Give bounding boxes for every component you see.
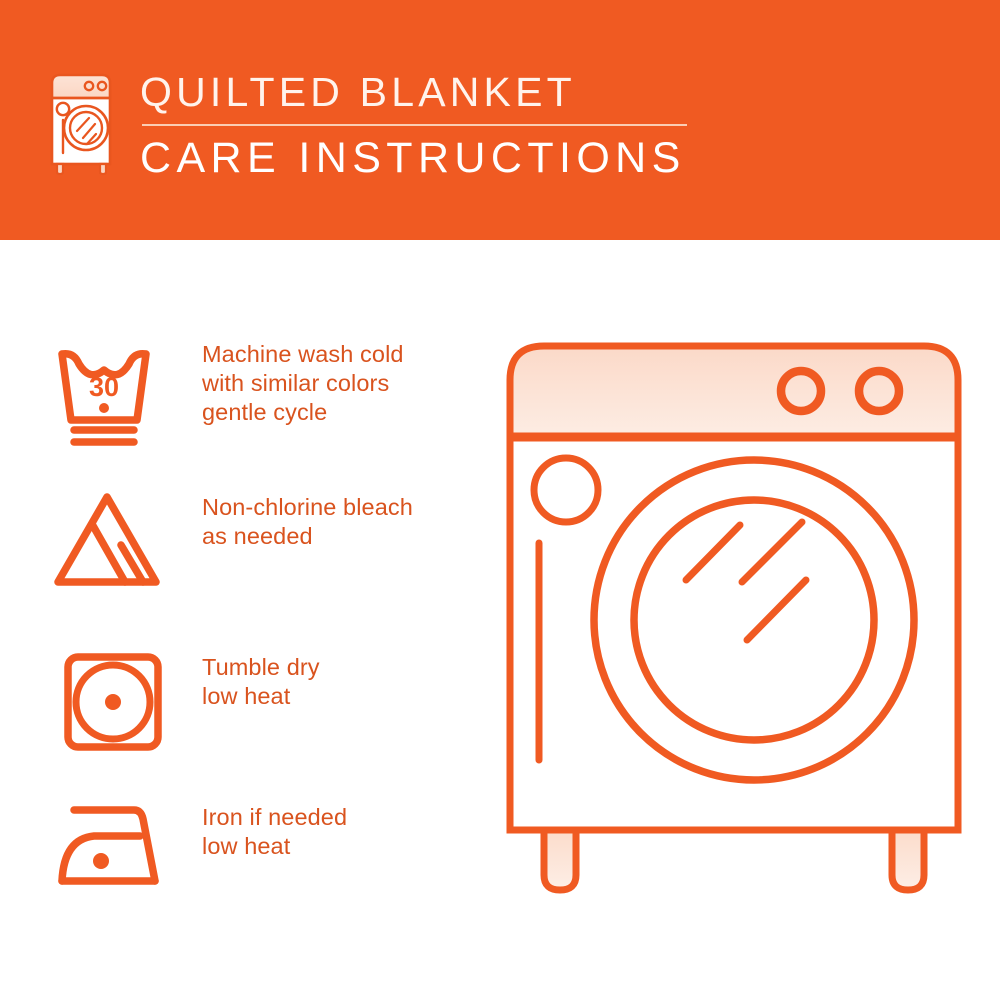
- care-text-bleach: Non-chlorine bleach as needed: [202, 493, 470, 551]
- care-instruction-list: 30 Machine wash cold with similar colors…: [0, 240, 470, 1000]
- care-row-iron: Iron if needed low heat: [0, 795, 470, 925]
- care-text-line: Non-chlorine bleach: [202, 493, 470, 522]
- page-subtitle: CARE INSTRUCTIONS: [140, 130, 720, 186]
- tumble-dry-low-heat-icon: [52, 645, 168, 755]
- non-chlorine-bleach-triangle-icon: [52, 485, 168, 595]
- iron-low-heat-icon: [52, 795, 168, 905]
- wash-temperature-label: 30: [89, 372, 119, 402]
- care-text-line: Iron if needed: [202, 803, 470, 832]
- care-text-tumble-dry: Tumble dry low heat: [202, 653, 470, 711]
- care-text-line: as needed: [202, 522, 470, 551]
- care-row-wash: 30 Machine wash cold with similar colors…: [0, 340, 470, 470]
- front-load-washing-machine-illustration: [484, 330, 984, 930]
- washing-machine-icon: [44, 68, 122, 176]
- care-text-line: Tumble dry: [202, 653, 470, 682]
- care-instructions-page: QUILTED BLANKET CARE INSTRUCTIONS 30: [0, 0, 1000, 1000]
- care-text-line: Machine wash cold: [202, 340, 470, 369]
- page-title: QUILTED BLANKET: [140, 66, 720, 118]
- foot-left: [544, 830, 576, 890]
- care-text-line: gentle cycle: [202, 398, 470, 427]
- control-panel: [510, 346, 958, 438]
- care-text-line: low heat: [202, 832, 470, 861]
- header-title-block: QUILTED BLANKET CARE INSTRUCTIONS: [140, 66, 720, 186]
- foot-right: [892, 830, 924, 890]
- header-banner: QUILTED BLANKET CARE INSTRUCTIONS: [0, 0, 1000, 240]
- care-text-wash: Machine wash cold with similar colors ge…: [202, 340, 470, 427]
- care-row-tumble-dry: Tumble dry low heat: [0, 645, 470, 775]
- care-text-iron: Iron if needed low heat: [202, 803, 470, 861]
- title-divider: [142, 124, 687, 126]
- care-text-line: with similar colors: [202, 369, 470, 398]
- care-row-bleach: Non-chlorine bleach as needed: [0, 485, 470, 615]
- care-text-line: low heat: [202, 682, 470, 711]
- machine-cabinet: [510, 430, 958, 830]
- wash-tub-30-gentle-icon: 30: [52, 340, 168, 450]
